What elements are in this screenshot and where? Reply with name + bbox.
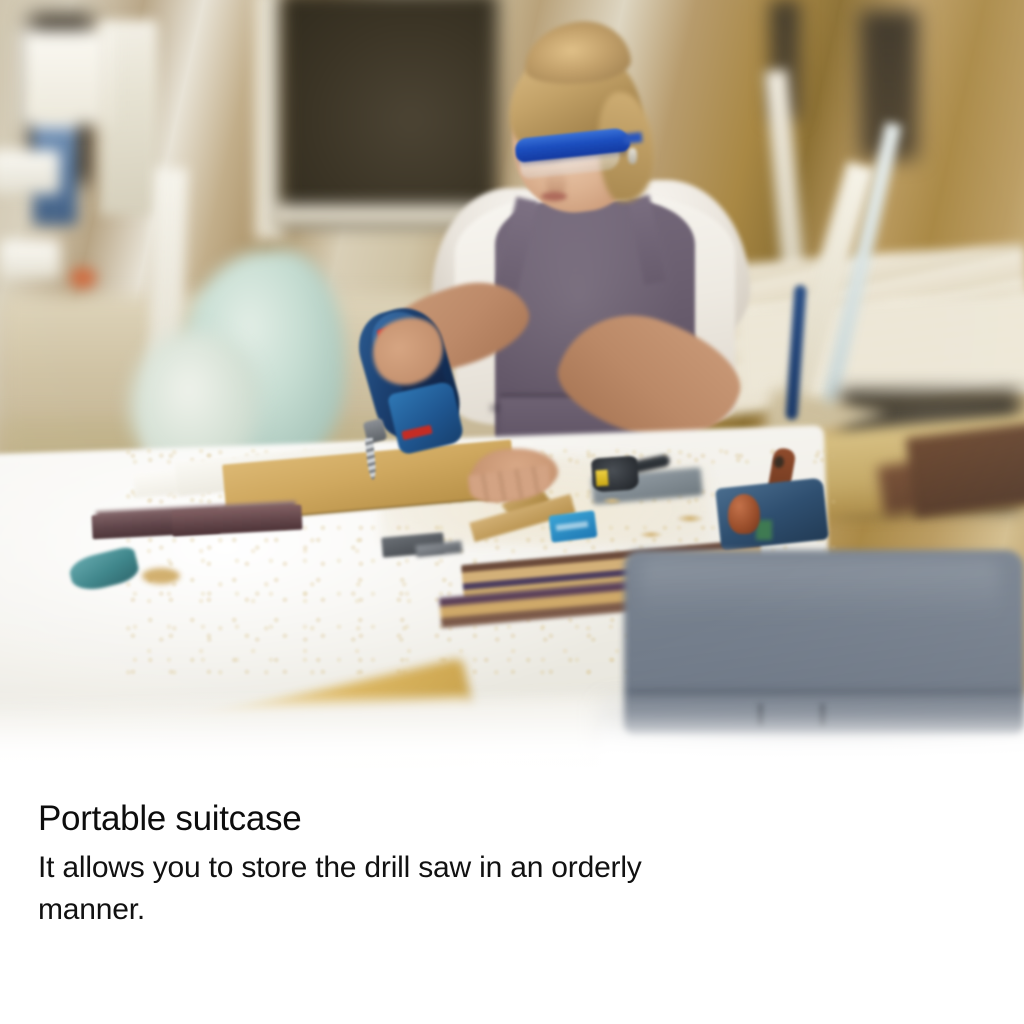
suitcase-lid-seam	[628, 690, 1020, 695]
product-feature-card: Portable suitcase It allows you to store…	[0, 0, 1024, 1024]
feature-description: It allows you to store the drill saw in …	[38, 847, 663, 932]
earring	[628, 148, 637, 164]
caption-block: Portable suitcase It allows you to store…	[0, 768, 1024, 1024]
amber-wood-chip	[142, 568, 180, 584]
lips	[541, 192, 567, 201]
hand-plane-knob	[728, 494, 760, 534]
safety-goggles-strap	[624, 132, 643, 144]
suitcase-highlight	[640, 560, 1000, 620]
product-lifestyle-photo	[0, 0, 1024, 768]
feature-title: Portable suitcase	[38, 801, 984, 838]
suitcase-bottom-fade	[600, 716, 1024, 768]
